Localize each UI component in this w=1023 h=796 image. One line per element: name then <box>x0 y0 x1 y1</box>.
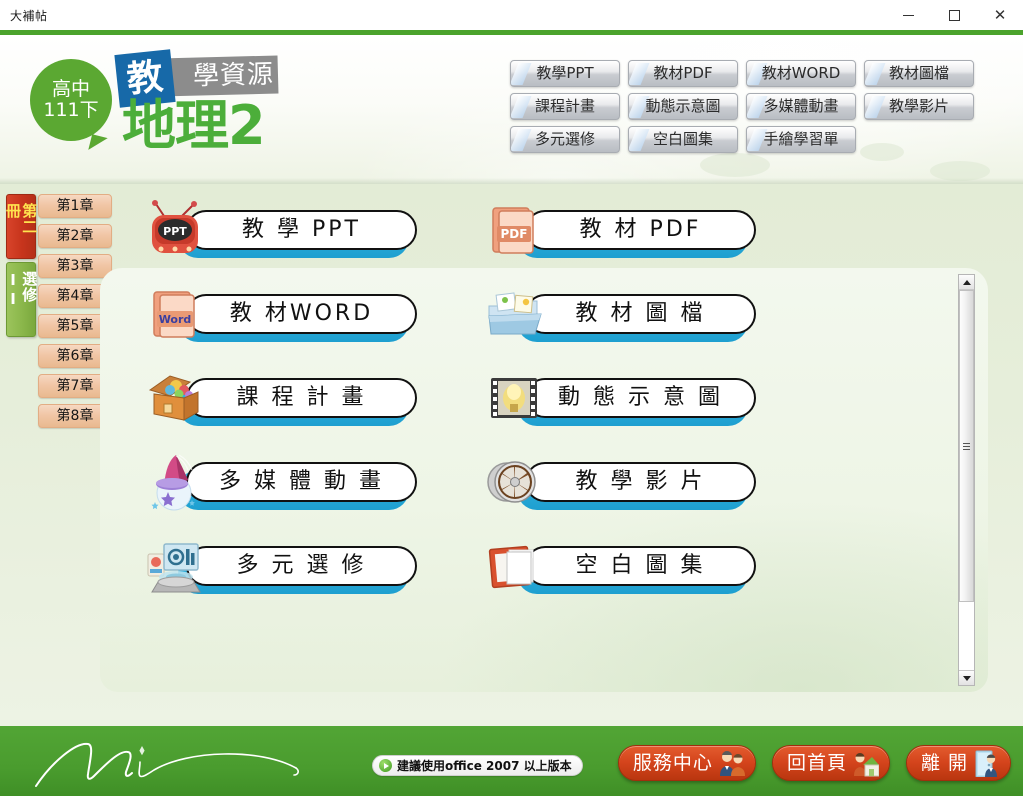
chevron-down-icon <box>963 676 971 681</box>
header-tag-row: 多元選修 空白圖集 手繪學習單 <box>510 126 1000 153</box>
header-tag-teaching-ppt[interactable]: 教學PPT <box>510 60 620 87</box>
menu-row: 多 元 選 修 <box>138 530 748 614</box>
resource-banner-text: 學資源 <box>160 55 279 96</box>
scroll-down-button[interactable] <box>959 670 974 685</box>
menu-row: 課 程 計 畫 動 態 示 意 圖 <box>138 362 748 446</box>
word-book-icon: Word <box>146 284 206 344</box>
header-tag-grid: 教學PPT 教材PDF 教材WORD 教材圖檔 課程計畫 動態示意圖 多媒體動畫… <box>510 60 1000 159</box>
office-version-note: 建議使用office 2007 以上版本 <box>372 755 583 776</box>
menu-item-label: 多 媒 體 動 畫 <box>186 462 417 502</box>
menu-item-material-word[interactable]: 教 材WORD Word <box>138 278 409 362</box>
home-button[interactable]: 回首頁 <box>772 745 890 781</box>
service-center-button[interactable]: 服務中心 <box>618 745 756 781</box>
menu-item-label: 教 學 PPT <box>186 210 417 250</box>
header-tag-multimedia-animation[interactable]: 多媒體動畫 <box>746 93 856 120</box>
menu-item-blank-atlas[interactable]: 空 白 圖 集 <box>477 530 748 614</box>
menu-item-teaching-video[interactable]: 教 學 影 片 <box>477 446 748 530</box>
menu-item-animation-diagram[interactable]: 動 態 示 意 圖 <box>477 362 748 446</box>
header-tag-course-plan[interactable]: 課程計畫 <box>510 93 620 120</box>
menu-item-label: 教 材 圖 檔 <box>525 294 756 334</box>
header-tag-elective[interactable]: 多元選修 <box>510 126 620 153</box>
menu-row: 多 媒 體 動 畫 <box>138 446 748 530</box>
service-center-label: 服務中心 <box>633 754 713 773</box>
menu-item-label: 空 白 圖 集 <box>525 546 756 586</box>
header-tag-animation-diagram[interactable]: 動態示意圖 <box>628 93 738 120</box>
grade-badge-line1: 高中 <box>52 79 90 100</box>
header-tag-row: 課程計畫 動態示意圖 多媒體動畫 教學影片 <box>510 93 1000 120</box>
grade-badge-line2: 111下 <box>43 100 98 121</box>
play-icon <box>379 759 392 772</box>
sidebar-item-chapter-1[interactable]: 第1章 <box>38 194 112 218</box>
blank-page-icon <box>485 536 545 596</box>
volume-tab-elective2[interactable]: 選修II <box>6 262 36 337</box>
header-decor-blob <box>930 161 990 181</box>
volume-tab-group: 第二冊 選修II <box>6 194 36 340</box>
office-note-text: 建議使用office 2007 以上版本 <box>397 757 572 774</box>
close-button[interactable]: ✕ <box>977 0 1023 30</box>
projector-icon <box>146 536 206 596</box>
header-banner: 高中 111下 學資源 教 地理2 教學PPT 教材PDF 教材WORD 教材圖… <box>0 35 1023 184</box>
menu-item-material-pdf[interactable]: 教 材 PDF PDF <box>477 194 748 278</box>
menu-item-multimedia-animation[interactable]: 多 媒 體 動 畫 <box>138 446 409 530</box>
maximize-icon <box>949 10 960 21</box>
scroll-up-button[interactable] <box>959 275 974 290</box>
film-reel-icon <box>485 452 545 512</box>
image-folder-icon <box>485 284 545 344</box>
svg-text:PPT: PPT <box>163 225 187 238</box>
content-scrollbar[interactable] <box>958 274 975 686</box>
service-people-icon <box>719 749 745 777</box>
window-controls: ✕ <box>885 0 1023 30</box>
exit-door-icon <box>974 749 1000 777</box>
svg-text:PDF: PDF <box>501 227 528 241</box>
main-region: 第二冊 選修II 第1章 第2章 第3章 第4章 第5章 第6章 第7章 第8章 <box>0 184 1023 726</box>
header-tag-material-images[interactable]: 教材圖檔 <box>864 60 974 87</box>
filmstrip-icon <box>485 368 545 428</box>
header-tag-material-pdf[interactable]: 教材PDF <box>628 60 738 87</box>
nani-brand-logo <box>28 732 328 792</box>
exit-button[interactable]: 離 開 <box>906 745 1011 781</box>
sidebar-item-chapter-2[interactable]: 第2章 <box>38 224 112 248</box>
magic-hat-icon <box>146 452 206 512</box>
product-logo: 高中 111下 學資源 教 地理2 <box>14 49 314 179</box>
minimize-button[interactable] <box>885 0 931 30</box>
scrollbar-thumb[interactable] <box>959 290 974 602</box>
close-icon: ✕ <box>994 8 1007 23</box>
treasure-box-icon <box>146 368 206 428</box>
title-bar: 大補帖 ✕ <box>0 0 1023 30</box>
header-tag-material-word[interactable]: 教材WORD <box>746 60 856 87</box>
sidebar-item-chapter-3[interactable]: 第3章 <box>38 254 112 278</box>
header-tag-handdrawn-worksheet[interactable]: 手繪學習單 <box>746 126 856 153</box>
svg-text:Word: Word <box>159 313 192 326</box>
footer-button-group: 服務中心 回首頁 離 開 <box>618 745 1011 781</box>
maximize-button[interactable] <box>931 0 977 30</box>
menu-item-elective[interactable]: 多 元 選 修 <box>138 530 409 614</box>
minimize-icon <box>903 15 914 16</box>
resource-menu: 教 學 PPT PPT <box>138 194 748 614</box>
chevron-up-icon <box>963 280 971 285</box>
header-tag-blank-atlas[interactable]: 空白圖集 <box>628 126 738 153</box>
volume-tab-book2[interactable]: 第二冊 <box>6 194 36 259</box>
ppt-tv-icon: PPT <box>146 200 206 260</box>
header-tag-row: 教學PPT 教材PDF 教材WORD 教材圖檔 <box>510 60 1000 87</box>
exit-label: 離 開 <box>921 754 968 773</box>
window-title: 大補帖 <box>10 7 48 24</box>
menu-item-label: 動 態 示 意 圖 <box>525 378 756 418</box>
menu-row: 教 材WORD Word 教 材 圖 檔 <box>138 278 748 362</box>
menu-item-label: 多 元 選 修 <box>186 546 417 586</box>
header-tag-teaching-video[interactable]: 教學影片 <box>864 93 974 120</box>
menu-item-label: 教 材WORD <box>186 294 417 334</box>
menu-item-label: 課 程 計 畫 <box>186 378 417 418</box>
scrollbar-grip-icon <box>963 441 970 452</box>
grade-badge: 高中 111下 <box>30 59 112 141</box>
home-label: 回首頁 <box>787 754 847 773</box>
menu-row: 教 學 PPT PPT <box>138 194 748 278</box>
menu-item-teaching-ppt[interactable]: 教 學 PPT PPT <box>138 194 409 278</box>
menu-item-material-images[interactable]: 教 材 圖 檔 <box>477 278 748 362</box>
menu-item-course-plan[interactable]: 課 程 計 畫 <box>138 362 409 446</box>
home-icon <box>853 749 879 777</box>
menu-item-label: 教 材 PDF <box>525 210 756 250</box>
menu-item-label: 教 學 影 片 <box>525 462 756 502</box>
pdf-book-icon: PDF <box>485 200 545 260</box>
application-window: 大補帖 ✕ 高中 111下 學資源 教 地理2 <box>0 0 1023 796</box>
page-title: 地理2 <box>122 99 265 153</box>
scrollbar-track[interactable] <box>959 290 974 670</box>
